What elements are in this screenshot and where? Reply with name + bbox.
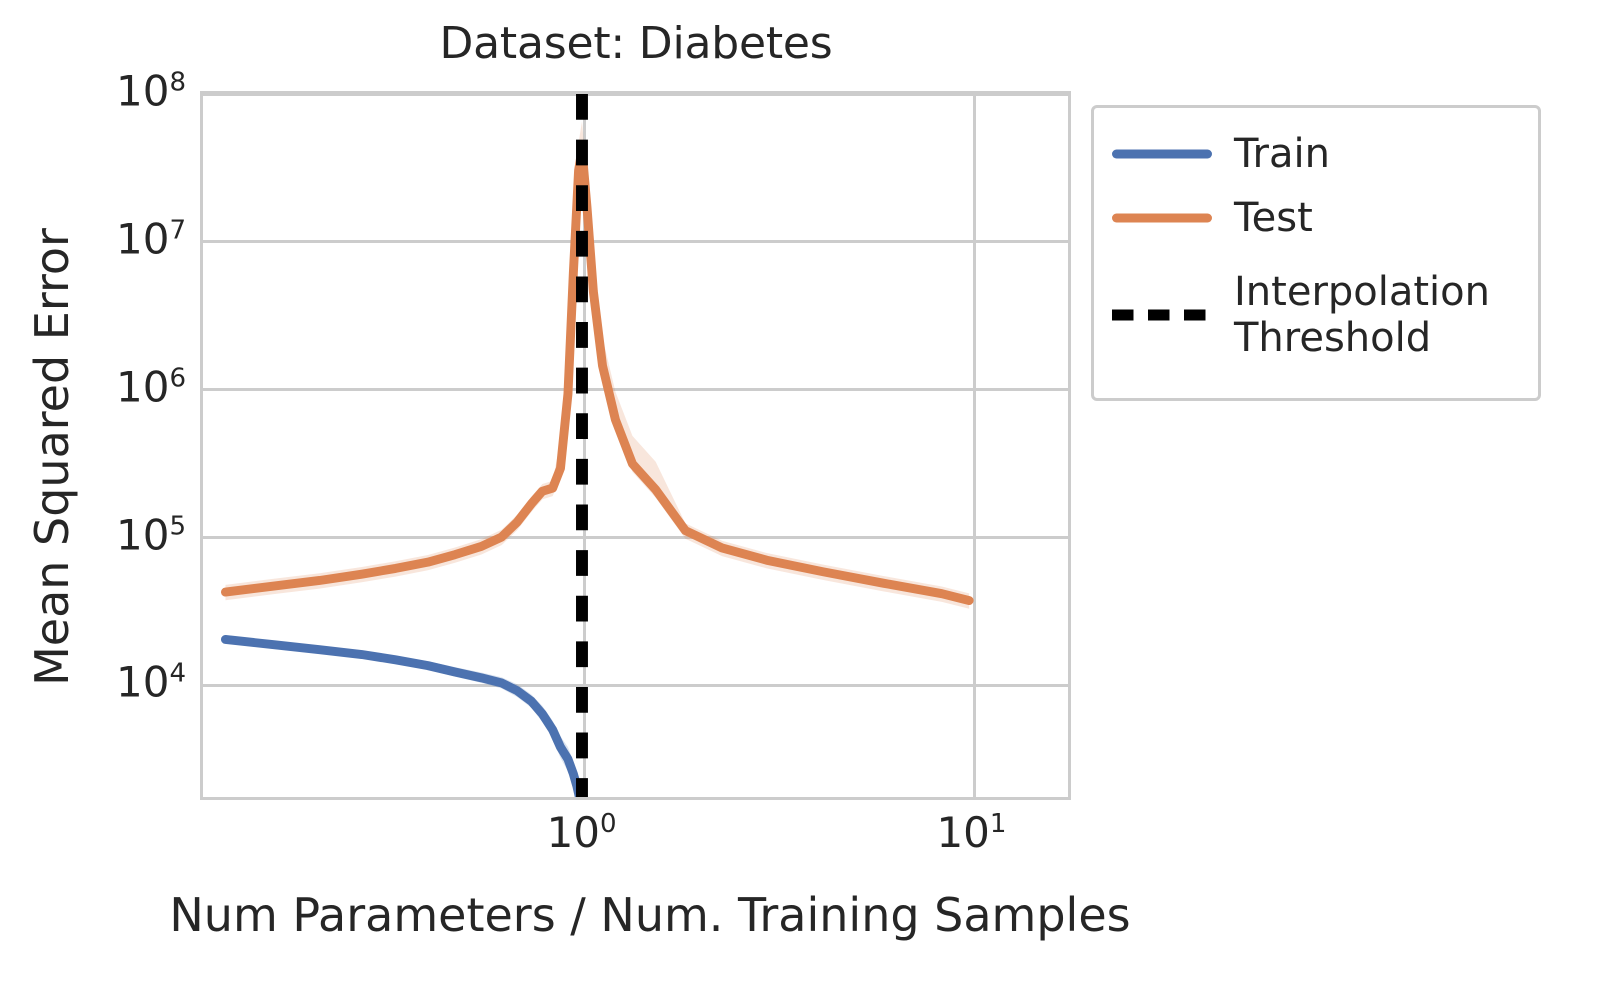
- legend-label-interpolation-threshold: Interpolation Threshold: [1234, 269, 1520, 361]
- x-tick-label-1e0: 100: [547, 808, 617, 857]
- x-tick-label-1e1: 101: [936, 808, 1006, 857]
- legend-label-test: Test: [1234, 195, 1313, 241]
- legend-item-test[interactable]: Test: [1112, 186, 1520, 250]
- y-tick-label-1e6: 106: [0, 362, 186, 411]
- dashed-line-swatch-icon: [1112, 300, 1212, 330]
- plot-area: [200, 91, 1071, 800]
- legend-item-train[interactable]: Train: [1112, 122, 1520, 186]
- chart-title: Dataset: Diabetes: [200, 18, 1072, 69]
- x-axis-label: Num Parameters / Num. Training Samples: [0, 888, 1300, 942]
- figure-diabetes-double-descent: Dataset: Diabetes Mean Squared Error Num…: [0, 0, 1609, 999]
- y-tick-label-1e5: 105: [0, 510, 186, 559]
- curves-svg: [203, 94, 1068, 797]
- train-line-swatch-icon: [1112, 139, 1212, 169]
- y-tick-label-1e8: 108: [0, 67, 186, 116]
- legend: Train Test Interpolation Threshold: [1091, 105, 1541, 401]
- train-line: [225, 639, 580, 797]
- legend-item-interpolation-threshold[interactable]: Interpolation Threshold: [1112, 250, 1520, 380]
- test-line: [225, 149, 969, 600]
- y-tick-label-1e4: 104: [0, 658, 186, 707]
- y-tick-label-1e7: 107: [0, 214, 186, 263]
- test-line-swatch-icon: [1112, 203, 1212, 233]
- test-confidence-band: [225, 121, 969, 608]
- legend-label-train: Train: [1234, 131, 1330, 177]
